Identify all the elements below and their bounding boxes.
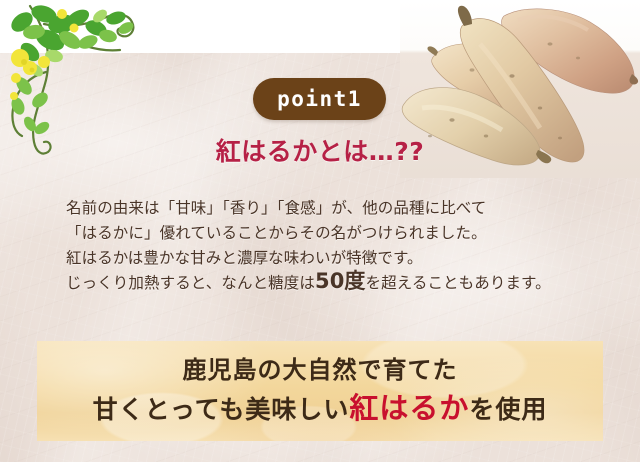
bottom-banner: 鹿児島の大自然で育てた 甘くとっても美味しい紅はるかを使用 <box>37 341 603 441</box>
body-line-4: じっくり加熱すると、なんと糖度は50度を超えることもあります。 <box>66 271 576 296</box>
body-line-4-before: じっくり加熱すると、なんと糖度は <box>66 274 315 292</box>
banner-line-2-before: 甘くとっても美味しい <box>93 395 350 424</box>
promo-page: point1 紅はるかとは…?? 名前の由来は「甘味」「香り」「食感」が、他の品… <box>0 0 640 462</box>
body-line-3: 紅はるかは豊かな甘みと濃厚な味わいが特徴です。 <box>66 246 576 271</box>
banner-line-2-after: を使用 <box>469 395 547 424</box>
banner-highlight-benihanka: 紅はるか <box>349 391 469 425</box>
point1-badge-label: point1 <box>277 89 362 110</box>
body-line-2: 「はるかに」優れていることからその名がつけられました。 <box>66 221 576 246</box>
body-line-4-after: を超えることもあります。 <box>366 274 551 292</box>
body-copy: 名前の由来は「甘味」「香り」「食感」が、他の品種に比べて 「はるかに」優れている… <box>66 196 576 296</box>
banner-line-1: 鹿児島の大自然で育てた <box>183 354 458 387</box>
sugar-degree-emphasis: 50度 <box>315 269 366 293</box>
body-line-1: 名前の由来は「甘味」「香り」「食感」が、他の品種に比べて <box>66 196 576 221</box>
point1-badge: point1 <box>253 78 386 120</box>
banner-line-2: 甘くとっても美味しい紅はるかを使用 <box>93 388 548 428</box>
page-title: 紅はるかとは…?? <box>0 138 640 166</box>
